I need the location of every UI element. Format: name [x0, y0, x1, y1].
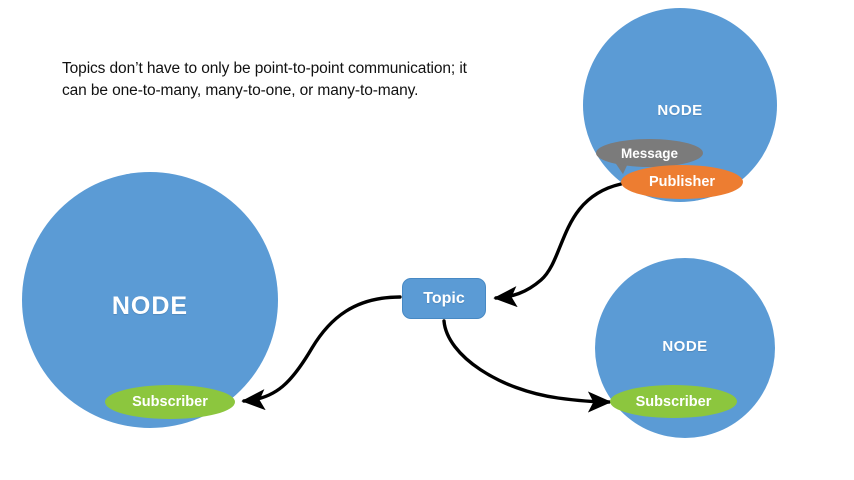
subscriber-pill-left[interactable]: Subscriber: [105, 385, 235, 419]
node-label-left: NODE: [22, 292, 278, 321]
topic-box[interactable]: Topic: [402, 278, 486, 319]
message-bubble-label: Message: [621, 146, 678, 161]
publisher-pill-label: Publisher: [649, 174, 715, 190]
topic-label: Topic: [423, 290, 464, 308]
connector-topic-to-bottom-right-subscriber: [444, 321, 609, 402]
caption-text: Topics don’t have to only be point-to-po…: [62, 58, 482, 103]
publisher-pill[interactable]: Publisher: [621, 165, 743, 199]
node-label-top-right: NODE: [583, 102, 777, 119]
subscriber-pill-label: Subscriber: [636, 394, 712, 410]
message-bubble[interactable]: Message: [596, 139, 703, 167]
slide-canvas: Topics don’t have to only be point-to-po…: [0, 0, 854, 480]
subscriber-pill-label: Subscriber: [132, 394, 208, 410]
node-label-bottom-right: NODE: [595, 338, 775, 355]
connector-publisher-to-topic: [496, 184, 621, 298]
subscriber-pill-bottom-right[interactable]: Subscriber: [610, 385, 737, 418]
